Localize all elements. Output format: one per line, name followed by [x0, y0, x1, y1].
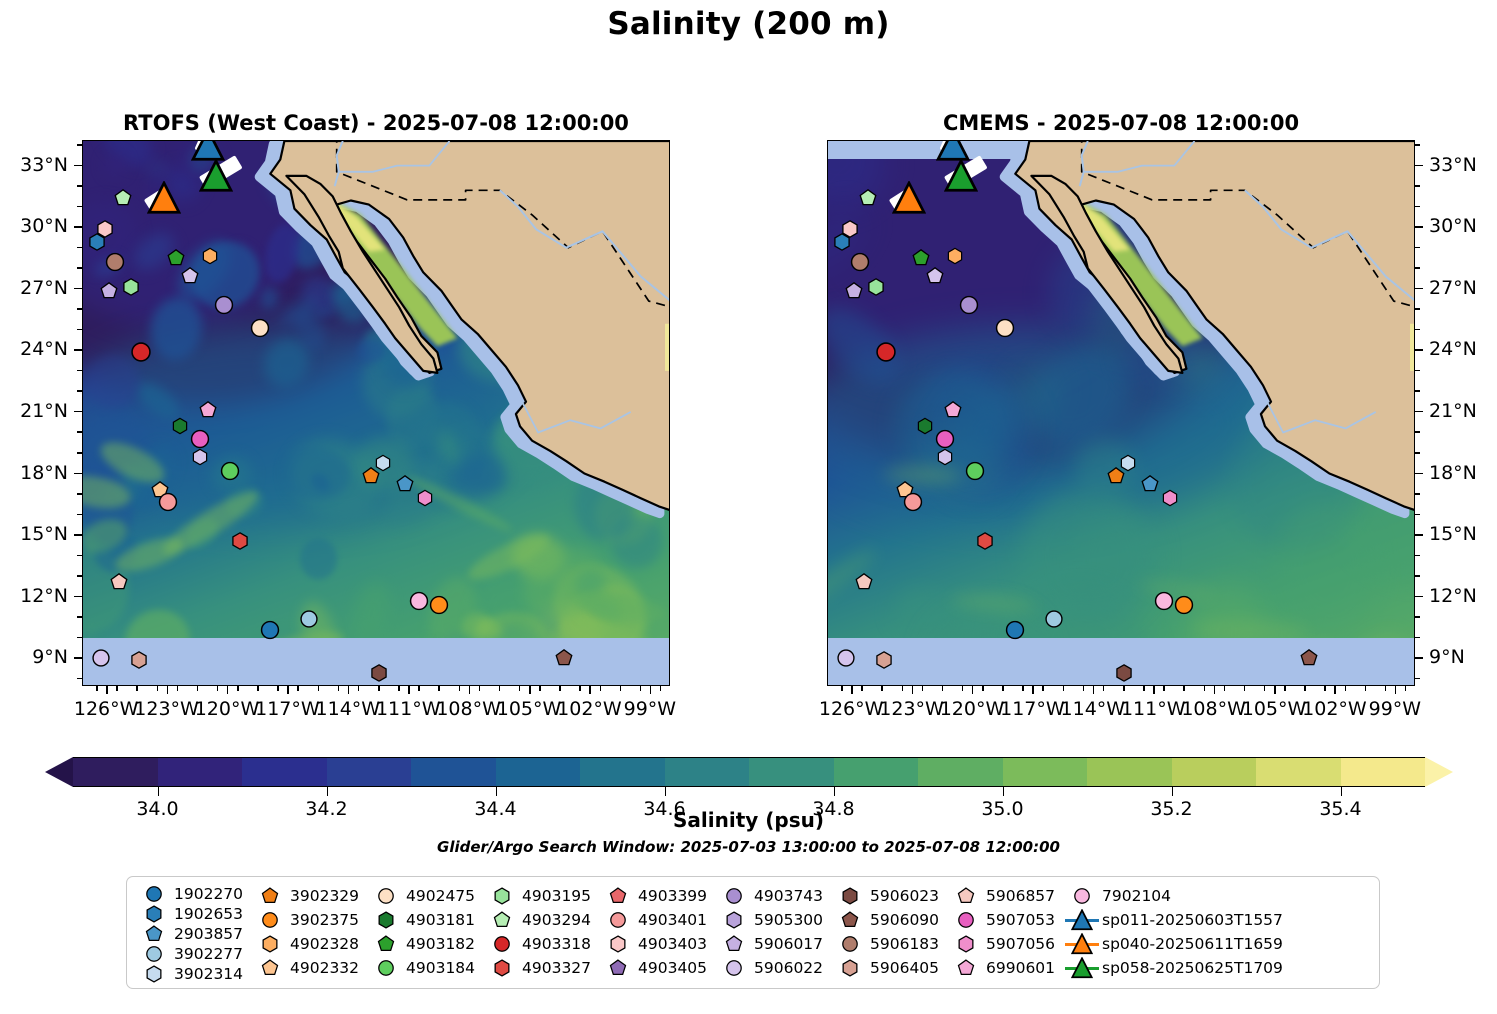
map-panel-cmems[interactable]: CMEMS - 2025-07-08 12:00:00 126°W123°W12…	[827, 140, 1415, 686]
legend-item[interactable]: 5906017	[717, 932, 833, 956]
legend-item[interactable]: 4903399	[601, 884, 717, 908]
y-minor-tick	[77, 165, 82, 167]
y-tick-label: 12°N	[20, 585, 68, 607]
figure-canvas: Salinity (200 m) RTOFS (West Coast) - 20…	[0, 0, 1497, 1014]
argo-float-marker[interactable]	[130, 651, 149, 670]
legend-item[interactable]: 6990601	[949, 956, 1065, 980]
y-minor-tick	[77, 390, 82, 392]
x-minor-tick	[116, 686, 118, 691]
legend-item[interactable]: 5906405	[833, 956, 949, 980]
x-tick-label: 99°W	[624, 698, 676, 720]
y-minor-tick	[77, 431, 82, 433]
legend-column: 5906023590609059061835906405	[833, 884, 949, 984]
legend-label: 4903405	[635, 959, 707, 977]
argo-float-marker[interactable]	[429, 594, 450, 615]
gulf-coast-line	[83, 141, 670, 686]
float-marker-icon	[137, 905, 171, 923]
search-window-note: Glider/Argo Search Window: 2025-07-03 13…	[0, 838, 1497, 856]
x-minor-tick	[1143, 686, 1145, 691]
argo-float-marker[interactable]	[836, 648, 856, 668]
argo-float-marker[interactable]	[100, 282, 119, 301]
y-minor-tick	[1415, 575, 1420, 577]
argo-float-marker[interactable]	[201, 247, 218, 264]
legend-label: 4903743	[751, 887, 823, 905]
x-tick-label: 117°W	[1000, 698, 1065, 720]
y-minor-tick	[77, 452, 82, 454]
argo-float-marker[interactable]	[958, 295, 979, 316]
float-marker-icon	[253, 887, 287, 905]
y-minor-tick	[77, 473, 82, 475]
argo-float-marker[interactable]	[1300, 649, 1319, 668]
x-tick	[972, 686, 974, 694]
legend-label: 4903184	[403, 959, 475, 977]
legend-label: 4902328	[287, 935, 359, 953]
x-minor-tick	[1002, 686, 1004, 691]
y-tick-label: 15°N	[20, 523, 68, 545]
x-minor-tick	[1365, 686, 1367, 691]
legend-label: 1902653	[171, 905, 243, 923]
argo-float-marker[interactable]	[260, 619, 281, 640]
x-tick	[287, 686, 289, 694]
figure-title: Salinity (200 m)	[0, 6, 1497, 42]
argo-float-marker[interactable]	[944, 401, 963, 420]
argo-float-marker[interactable]	[250, 317, 271, 338]
legend-item[interactable]: 4903184	[369, 956, 485, 980]
legend-item[interactable]: 5906090	[833, 908, 949, 932]
legend-label: 1902270	[171, 885, 243, 903]
legend-box[interactable]: 1902270190265329038573902277390231439023…	[126, 876, 1380, 989]
x-tick-label: 105°W	[497, 698, 562, 720]
x-minor-tick	[479, 686, 481, 691]
float-marker-icon	[253, 935, 287, 953]
y-minor-tick	[1415, 637, 1420, 639]
y-minor-tick	[1415, 411, 1420, 413]
x-minor-tick	[96, 686, 98, 691]
glider-marker[interactable]	[199, 159, 233, 193]
legend-label: 5906017	[751, 935, 823, 953]
legend-label: 5907056	[983, 935, 1055, 953]
y-minor-tick	[77, 616, 82, 618]
y-minor-tick	[77, 678, 82, 680]
colorbar-band	[158, 758, 243, 786]
x-minor-tick	[438, 686, 440, 691]
x-minor-tick	[1204, 686, 1206, 691]
x-tick	[1093, 686, 1095, 694]
x-tick-label: 108°W	[1181, 698, 1246, 720]
x-tick	[167, 686, 169, 694]
argo-float-marker[interactable]	[934, 428, 955, 449]
y-minor-tick	[77, 514, 82, 516]
argo-float-marker[interactable]	[1154, 590, 1175, 611]
x-tick-label: 114°W	[1061, 698, 1126, 720]
x-minor-tick	[358, 686, 360, 691]
legend-label: 5906023	[867, 887, 939, 905]
legend-label: 3902277	[171, 945, 243, 963]
argo-float-marker[interactable]	[875, 651, 894, 670]
x-minor-tick	[1083, 686, 1085, 691]
float-marker-icon	[369, 959, 403, 977]
y-minor-tick	[77, 349, 82, 351]
y-minor-tick	[77, 267, 82, 269]
colorbar-band	[496, 758, 581, 786]
argo-float-marker[interactable]	[867, 277, 886, 296]
legend-label: 3902329	[287, 887, 359, 905]
x-tick	[469, 686, 471, 694]
map-panel-rtofs[interactable]: RTOFS (West Coast) - 2025-07-08 12:00:00…	[82, 140, 670, 686]
colorbar-band	[1172, 758, 1257, 786]
legend-label: 5905300	[751, 911, 823, 929]
legend-item[interactable]: 5906857	[949, 884, 1065, 908]
argo-float-marker[interactable]	[1141, 474, 1160, 493]
y-tick-label: 30°N	[1429, 215, 1477, 237]
colorbar-tick	[1341, 787, 1342, 796]
x-minor-tick	[1224, 686, 1226, 691]
float-marker-icon	[137, 965, 171, 983]
x-minor-tick	[902, 686, 904, 691]
argo-float-marker[interactable]	[964, 461, 985, 482]
colorbar-bands	[73, 757, 1425, 787]
legend-column: 3902329390237549023284902332	[253, 884, 369, 984]
colorbar: 34.034.234.434.634.835.035.235.4	[45, 757, 1453, 787]
legend-item[interactable]: sp011-20250603T1557	[1065, 908, 1265, 932]
colorbar-tick	[327, 787, 328, 796]
float-marker-icon	[137, 925, 171, 943]
y-minor-tick	[1415, 185, 1420, 187]
colorbar-tick	[1003, 787, 1004, 796]
argo-float-marker[interactable]	[1115, 663, 1134, 682]
colorbar-band	[411, 758, 496, 786]
argo-float-marker[interactable]	[859, 189, 878, 208]
x-minor-tick	[1042, 686, 1044, 691]
legend-item[interactable]: 4903181	[369, 908, 485, 932]
colorbar-tick	[834, 787, 835, 796]
argo-float-marker[interactable]	[231, 532, 250, 551]
y-tick-label: 21°N	[20, 400, 68, 422]
float-marker-icon	[833, 959, 867, 977]
float-marker-icon	[601, 887, 635, 905]
legend-item[interactable]: 4903294	[485, 908, 601, 932]
argo-float-marker[interactable]	[911, 249, 930, 268]
y-minor-tick	[1415, 390, 1420, 392]
x-tick	[529, 686, 531, 694]
y-minor-tick	[1415, 493, 1420, 495]
argo-float-marker[interactable]	[219, 461, 240, 482]
argo-float-marker[interactable]	[396, 474, 415, 493]
colorbar-band	[1341, 758, 1426, 786]
legend-item[interactable]: 3902375	[253, 908, 369, 932]
x-tick-label: 123°W	[879, 698, 944, 720]
x-minor-tick	[1103, 686, 1105, 691]
legend-item[interactable]: 3902277	[137, 944, 253, 964]
legend-item[interactable]: 5906023	[833, 884, 949, 908]
y-minor-tick	[77, 247, 82, 249]
y-minor-tick	[77, 555, 82, 557]
x-tick-label: 111°W	[376, 698, 441, 720]
y-tick-label: 27°N	[1429, 277, 1477, 299]
legend-item[interactable]: 5907053	[949, 908, 1065, 932]
x-minor-tick	[338, 686, 340, 691]
x-minor-tick	[861, 686, 863, 691]
colorbar-band	[918, 758, 1003, 786]
legend-item[interactable]: 7902104	[1065, 884, 1265, 908]
argo-float-marker[interactable]	[936, 448, 953, 465]
y-minor-tick	[77, 308, 82, 310]
argo-float-marker[interactable]	[946, 247, 963, 264]
glider-track-icon	[1065, 909, 1099, 931]
y-minor-tick	[1415, 308, 1420, 310]
x-minor-tick	[881, 686, 883, 691]
legend-item[interactable]: 3902314	[137, 964, 253, 984]
argo-float-marker[interactable]	[213, 295, 234, 316]
float-marker-icon	[485, 959, 519, 977]
colorbar-band	[327, 758, 412, 786]
argo-float-marker[interactable]	[976, 532, 995, 551]
argo-float-marker[interactable]	[1044, 609, 1064, 629]
glider-marker[interactable]	[147, 181, 181, 215]
legend-label: 5906090	[867, 911, 939, 929]
map-rtofs[interactable]	[82, 140, 670, 686]
x-tick-label: 126°W	[74, 698, 139, 720]
argo-float-marker[interactable]	[299, 609, 319, 629]
y-minor-tick	[77, 226, 82, 228]
legend-item[interactable]: sp058-20250625T1709	[1065, 956, 1265, 980]
y-minor-tick	[1415, 226, 1420, 228]
legend-item[interactable]: 5906022	[717, 956, 833, 980]
y-tick-label: 12°N	[1429, 585, 1477, 607]
argo-float-marker[interactable]	[122, 277, 141, 296]
y-minor-tick	[1415, 431, 1420, 433]
glider-marker[interactable]	[944, 159, 978, 193]
legend-item[interactable]: 4902328	[253, 932, 369, 956]
y-tick-label: 15°N	[1429, 523, 1477, 545]
y-minor-tick	[1415, 473, 1420, 475]
map-cmems[interactable]	[827, 140, 1415, 686]
legend-item[interactable]: 5906183	[833, 932, 949, 956]
argo-float-marker[interactable]	[855, 573, 874, 592]
y-minor-tick	[1415, 267, 1420, 269]
legend-item[interactable]: 5907056	[949, 932, 1065, 956]
y-minor-tick	[77, 637, 82, 639]
argo-float-marker[interactable]	[114, 189, 133, 208]
y-minor-tick	[77, 185, 82, 187]
x-minor-tick	[620, 686, 622, 691]
x-tick-label: 120°W	[195, 698, 260, 720]
argo-float-marker[interactable]	[191, 448, 208, 465]
argo-float-marker[interactable]	[189, 428, 210, 449]
y-minor-tick	[1415, 555, 1420, 557]
float-marker-icon	[137, 945, 171, 963]
legend-label: 4903401	[635, 911, 707, 929]
x-minor-tick	[922, 686, 924, 691]
y-tick-label: 9°N	[32, 646, 68, 668]
legend-item[interactable]: 4903327	[485, 956, 601, 980]
float-marker-icon	[949, 887, 983, 905]
legend-column: 4903399490340149034034903405	[601, 884, 717, 984]
float-marker-icon	[833, 935, 867, 953]
float-marker-icon	[369, 911, 403, 929]
x-minor-tick	[277, 686, 279, 691]
legend-item[interactable]: 1902270	[137, 884, 253, 904]
legend-columns: 1902270190265329038573902277390231439023…	[137, 884, 1373, 984]
y-tick-label: 9°N	[1429, 646, 1465, 668]
x-minor-tick	[1163, 686, 1165, 691]
x-minor-tick	[257, 686, 259, 691]
y-minor-tick	[1415, 349, 1420, 351]
float-marker-icon	[485, 887, 519, 905]
legend-label: 5906857	[983, 887, 1055, 905]
argo-float-marker[interactable]	[875, 341, 897, 363]
x-minor-tick	[136, 686, 138, 691]
y-minor-tick	[77, 329, 82, 331]
legend-item[interactable]: 4903401	[601, 908, 717, 932]
y-tick-label: 24°N	[1429, 338, 1477, 360]
legend-label: 4902332	[287, 959, 359, 977]
argo-float-marker[interactable]	[171, 418, 188, 435]
legend-column: 19022701902653290385739022773902314	[137, 884, 253, 984]
argo-float-marker[interactable]	[850, 252, 871, 273]
y-minor-tick	[77, 370, 82, 372]
x-minor-tick	[217, 686, 219, 691]
legend-item[interactable]: sp040-20250611T1659	[1065, 932, 1265, 956]
argo-float-marker[interactable]	[555, 649, 574, 668]
argo-float-marker[interactable]	[845, 282, 864, 301]
argo-float-marker[interactable]	[180, 267, 199, 286]
x-minor-tick	[1385, 686, 1387, 691]
legend-label: 7902104	[1099, 887, 1171, 905]
argo-float-marker[interactable]	[130, 341, 152, 363]
colorbar-tick	[665, 787, 666, 796]
colorbar-label: Salinity (psu)	[0, 808, 1497, 832]
legend-item[interactable]: 4902475	[369, 884, 485, 908]
glider-marker[interactable]	[892, 181, 926, 215]
float-marker-icon	[369, 887, 403, 905]
legend-column: 7902104sp011-20250603T1557sp040-20250611…	[1065, 884, 1265, 984]
argo-float-marker[interactable]	[995, 317, 1016, 338]
y-minor-tick	[1415, 534, 1420, 536]
argo-float-marker[interactable]	[370, 663, 389, 682]
argo-float-marker[interactable]	[362, 466, 381, 485]
argo-float-marker[interactable]	[88, 232, 107, 251]
y-minor-tick	[1415, 288, 1420, 290]
legend-item[interactable]: 1902653	[137, 904, 253, 924]
argo-float-marker[interactable]	[916, 418, 933, 435]
legend-item[interactable]: 3902329	[253, 884, 369, 908]
legend-label: 4903399	[635, 887, 707, 905]
argo-float-marker[interactable]	[925, 267, 944, 286]
argo-float-marker[interactable]	[1174, 594, 1195, 615]
argo-float-marker[interactable]	[417, 489, 434, 506]
x-tick-label: 120°W	[940, 698, 1005, 720]
y-minor-tick	[77, 657, 82, 659]
legend-column: 4903743590530059060175906022	[717, 884, 833, 984]
legend-item[interactable]: 4903195	[485, 884, 601, 908]
argo-float-marker[interactable]	[1162, 489, 1179, 506]
y-tick-label: 30°N	[20, 215, 68, 237]
panel-title-rtofs: RTOFS (West Coast) - 2025-07-08 12:00:00	[82, 111, 670, 140]
x-tick	[1153, 686, 1155, 694]
x-minor-tick	[539, 686, 541, 691]
argo-float-marker[interactable]	[91, 648, 111, 668]
argo-float-marker[interactable]	[166, 249, 185, 268]
legend-label: 2903857	[171, 925, 243, 943]
legend-item[interactable]: 4903405	[601, 956, 717, 980]
x-tick	[1274, 686, 1276, 694]
y-minor-tick	[1415, 247, 1420, 249]
colorbar-band	[73, 758, 158, 786]
x-minor-tick	[942, 686, 944, 691]
argo-float-marker[interactable]	[110, 573, 129, 592]
x-minor-tick	[1405, 686, 1407, 691]
x-minor-tick	[237, 686, 239, 691]
float-marker-icon	[717, 887, 751, 905]
colorbar-tick	[496, 787, 497, 796]
y-tick-label: 18°N	[1429, 462, 1477, 484]
y-minor-tick	[1415, 165, 1420, 167]
float-marker-icon	[253, 911, 287, 929]
colorbar-band	[834, 758, 919, 786]
y-minor-tick	[1415, 144, 1420, 146]
x-minor-tick	[1264, 686, 1266, 691]
legend-label: 5906183	[867, 935, 939, 953]
argo-float-marker[interactable]	[409, 590, 430, 611]
legend-item[interactable]: 4903403	[601, 932, 717, 956]
legend-item[interactable]: 4903318	[485, 932, 601, 956]
legend-label: 6990601	[983, 959, 1055, 977]
x-tick-label: 105°W	[1242, 698, 1307, 720]
legend-item[interactable]: 4902332	[253, 956, 369, 980]
float-marker-icon	[485, 911, 519, 929]
argo-float-marker[interactable]	[105, 252, 126, 273]
legend-label: sp040-20250611T1659	[1099, 935, 1283, 953]
colorbar-band	[580, 758, 665, 786]
x-minor-tick	[1022, 686, 1024, 691]
x-tick-label: 126°W	[819, 698, 884, 720]
float-marker-icon	[1065, 887, 1099, 905]
panel-title-cmems: CMEMS - 2025-07-08 12:00:00	[827, 111, 1415, 140]
legend-item[interactable]: 2903857	[137, 924, 253, 944]
argo-float-marker[interactable]	[902, 492, 923, 513]
x-minor-tick	[459, 686, 461, 691]
x-minor-tick	[398, 686, 400, 691]
legend-label: 4903181	[403, 911, 475, 929]
x-tick	[650, 686, 652, 694]
legend-item[interactable]: 4903182	[369, 932, 485, 956]
legend-label: 4903403	[635, 935, 707, 953]
colorbar-tick	[1172, 787, 1173, 796]
legend-item[interactable]: 4903743	[717, 884, 833, 908]
argo-float-marker[interactable]	[1005, 619, 1026, 640]
x-tick-label: 114°W	[316, 698, 381, 720]
legend-item[interactable]: 5905300	[717, 908, 833, 932]
argo-float-marker[interactable]	[199, 401, 218, 420]
argo-float-marker[interactable]	[1107, 466, 1126, 485]
legend-label: 4903318	[519, 935, 591, 953]
y-minor-tick	[1415, 370, 1420, 372]
float-marker-icon	[253, 959, 287, 977]
argo-float-marker[interactable]	[157, 492, 178, 513]
float-marker-icon	[949, 935, 983, 953]
argo-float-marker[interactable]	[833, 232, 852, 251]
legend-column: 5906857590705359070566990601	[949, 884, 1065, 984]
y-minor-tick	[77, 206, 82, 208]
y-minor-tick	[77, 534, 82, 536]
x-minor-tick	[1324, 686, 1326, 691]
legend-label: 3902375	[287, 911, 359, 929]
x-tick	[227, 686, 229, 694]
y-tick-label: 21°N	[1429, 400, 1477, 422]
legend-label: 5906405	[867, 959, 939, 977]
x-tick	[1032, 686, 1034, 694]
